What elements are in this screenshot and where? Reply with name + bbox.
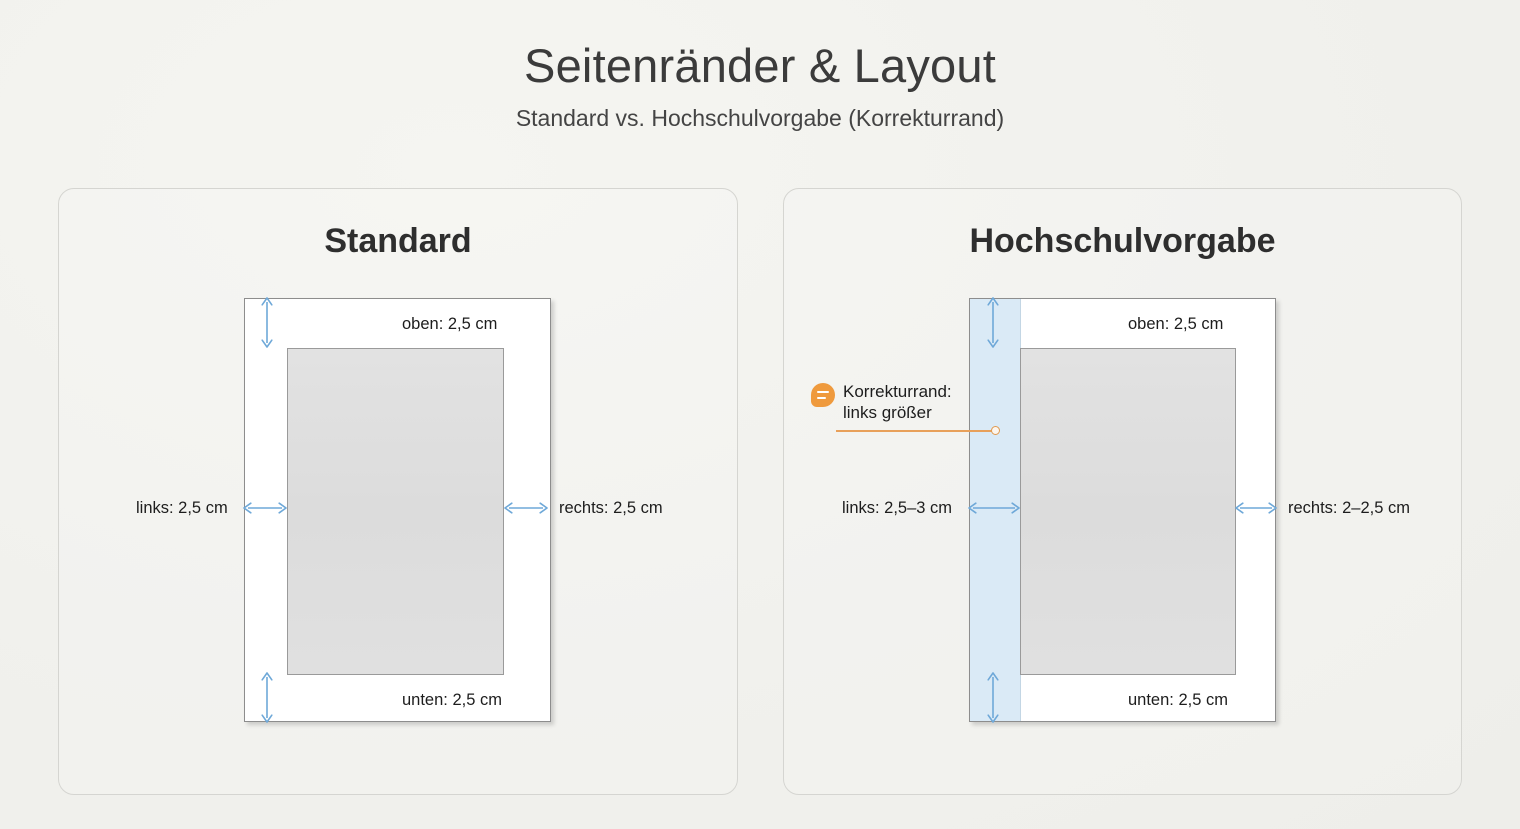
page-subtitle: Standard vs. Hochschulvorgabe (Korrektur… [0,105,1520,132]
margin-label-right-standard: rechts: 2,5 cm [559,499,663,518]
margin-arrow-top-hochschulvorgabe [986,298,1000,347]
margin-arrow-bottom-standard [260,673,274,722]
panel-title-standard: Standard [59,222,737,261]
margin-label-bottom-standard: unten: 2,5 cm [402,691,502,710]
callout-line-1: Korrekturrand: [843,381,952,402]
margin-label-left-hochschulvorgabe: links: 2,5–3 cm [842,499,952,518]
panel-standard: Standard oben: 2,5 cm unten: 2,5 cm [58,188,738,795]
margin-arrow-top-standard [260,298,274,347]
panel-title-hochschulvorgabe: Hochschulvorgabe [784,222,1461,261]
margin-label-left-standard: links: 2,5 cm [136,499,228,518]
panel-hochschulvorgabe: Hochschulvorgabe oben: 2,5 cm unten: 2,5… [783,188,1462,795]
diagram-canvas: Seitenränder & Layout Standard vs. Hochs… [0,0,1520,829]
page-title: Seitenränder & Layout [0,38,1520,93]
margin-label-top-standard: oben: 2,5 cm [402,315,497,334]
text-block-hochschulvorgabe [1020,348,1236,675]
margin-arrow-right-standard [505,501,547,515]
margin-label-bottom-hochschulvorgabe: unten: 2,5 cm [1128,691,1228,710]
margin-label-right-hochschulvorgabe: rechts: 2–2,5 cm [1288,499,1410,518]
margin-arrow-right-hochschulvorgabe [1236,501,1276,515]
margin-label-top-hochschulvorgabe: oben: 2,5 cm [1128,315,1223,334]
margin-arrow-bottom-hochschulvorgabe [986,673,1000,722]
text-block-standard [287,348,504,675]
margin-arrow-left-standard [244,501,286,515]
margin-arrow-left-hochschulvorgabe [969,501,1019,515]
callout-leader-line [836,430,994,432]
callout-anchor-dot [991,426,1000,435]
note-icon [811,383,835,407]
callout-line-2: links größer [843,402,952,423]
callout-text: Korrekturrand: links größer [843,381,952,423]
